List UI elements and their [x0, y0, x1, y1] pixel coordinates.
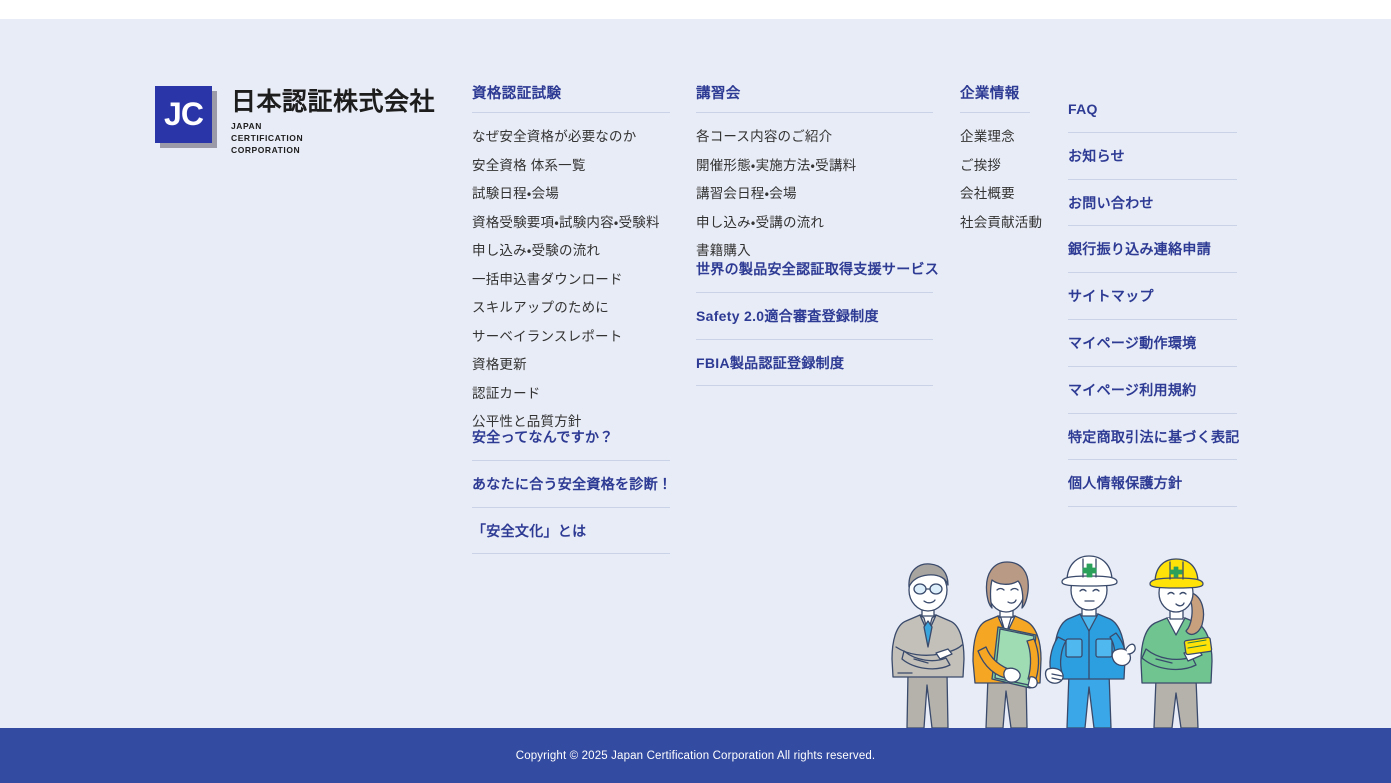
list-item: 世界の製品安全認証取得支援サービス — [696, 246, 933, 293]
footer-link-sitemap[interactable]: サイトマップ — [1068, 273, 1237, 320]
footer-link-company-profile[interactable]: 会社概要 — [960, 180, 1055, 208]
column-links-seminars: 各コース内容のご紹介 開催形態・実施方法・受講料 講習会日程・会場 申し込み・受… — [696, 123, 933, 265]
footer-column-support: FAQ お知らせ お問い合わせ 銀行振り込み連絡申請 サイトマップ マイページ動… — [1068, 86, 1237, 507]
list-item: 個人情報保護方針 — [1068, 460, 1237, 507]
footer-link-application-exam-flow[interactable]: 申し込み・受験の流れ — [472, 237, 670, 265]
list-item: サーベイランスレポート — [472, 323, 670, 351]
footer-link-what-is-safety[interactable]: 安全ってなんですか？ — [472, 414, 670, 461]
footer-link-privacy-policy[interactable]: 個人情報保護方針 — [1068, 460, 1237, 507]
list-item: 認証カード — [472, 380, 670, 408]
column-heading-company: 企業情報 — [960, 86, 1030, 113]
footer-link-why-safety-qualification[interactable]: なぜ安全資格が必要なのか — [472, 123, 670, 151]
column-links-exams: なぜ安全資格が必要なのか 安全資格 体系一覧 試験日程・会場 資格受験要項・試験… — [472, 123, 670, 436]
list-item: マイページ利用規約 — [1068, 367, 1237, 414]
footer-link-qualification-renewal[interactable]: 資格更新 — [472, 351, 670, 379]
logo-initials: JC — [164, 98, 203, 130]
list-item: 会社概要 — [960, 180, 1055, 208]
brand-name-en-line2: CERTIFICATION — [231, 132, 435, 144]
list-item: 一括申込書ダウンロード — [472, 266, 670, 294]
footer-link-news[interactable]: お知らせ — [1068, 133, 1237, 180]
footer-link-contact[interactable]: お問い合わせ — [1068, 180, 1237, 227]
footer-link-specified-commercial-transactions[interactable]: 特定商取引法に基づく表記 — [1068, 414, 1237, 461]
footer-link-certification-card[interactable]: 認証カード — [472, 380, 670, 408]
list-item: 資格受験要項・試験内容・受験料 — [472, 209, 670, 237]
footer-link-course-introduction[interactable]: 各コース内容のご紹介 — [696, 123, 933, 151]
footer-link-safety-2-0-registration[interactable]: Safety 2.0適合審査登録制度 — [696, 293, 933, 340]
footer-link-mypage-terms[interactable]: マイページ利用規約 — [1068, 367, 1237, 414]
footer-link-corporate-philosophy[interactable]: 企業理念 — [960, 123, 1055, 151]
column-links-company: 企業理念 ご挨拶 会社概要 社会貢献活動 — [960, 123, 1055, 237]
brand-name-ja: 日本認証株式会社 — [231, 88, 435, 117]
list-item: 「安全文化」とは — [472, 508, 670, 555]
figure-worker-helmet-yellow — [1141, 559, 1212, 728]
footer-column-seminars: 講習会 各コース内容のご紹介 開催形態・実施方法・受講料 講習会日程・会場 申し… — [696, 86, 933, 266]
footer-link-seminar-schedule-venue[interactable]: 講習会日程・会場 — [696, 180, 933, 208]
figure-businessman — [892, 564, 964, 728]
footer-page: JC 日本認証株式会社 JAPAN CERTIFICATION CORPORAT… — [0, 0, 1391, 783]
list-item: 申し込み・受験の流れ — [472, 237, 670, 265]
list-item: 開催形態・実施方法・受講料 — [696, 152, 933, 180]
list-item: お知らせ — [1068, 133, 1237, 180]
footer-link-social-contribution[interactable]: 社会貢献活動 — [960, 209, 1055, 237]
footer-column-company: 企業情報 企業理念 ご挨拶 会社概要 社会貢献活動 — [960, 86, 1055, 237]
list-item: 安全ってなんですか？ — [472, 414, 670, 461]
list-item: なぜ安全資格が必要なのか — [472, 123, 670, 151]
column-heading-exams: 資格認証試験 — [472, 86, 670, 113]
list-item: 社会貢献活動 — [960, 209, 1055, 237]
list-item: 企業理念 — [960, 123, 1055, 151]
footer-banner-links-safety: 安全ってなんですか？ あなたに合う安全資格を診断！ 「安全文化」とは — [472, 414, 670, 554]
logo-square: JC — [155, 86, 212, 143]
footer-link-format-method-fee[interactable]: 開催形態・実施方法・受講料 — [696, 152, 933, 180]
column-heading-seminars: 講習会 — [696, 86, 933, 113]
figure-office-woman — [973, 562, 1041, 728]
list-item: あなたに合う安全資格を診断！ — [472, 461, 670, 508]
footer-link-application-attendance-flow[interactable]: 申し込み・受講の流れ — [696, 209, 933, 237]
footer-link-mypage-environment[interactable]: マイページ動作環境 — [1068, 320, 1237, 367]
top-white-strip — [0, 0, 1391, 19]
footer-body: JC 日本認証株式会社 JAPAN CERTIFICATION CORPORAT… — [0, 19, 1391, 728]
list-item: Safety 2.0適合審査登録制度 — [696, 293, 933, 340]
footer-link-skill-up[interactable]: スキルアップのために — [472, 294, 670, 322]
list-item: 試験日程・会場 — [472, 180, 670, 208]
workers-illustration — [884, 555, 1249, 728]
list-item: 銀行振り込み連絡申請 — [1068, 226, 1237, 273]
footer-link-safety-culture[interactable]: 「安全文化」とは — [472, 508, 670, 555]
footer-link-bank-transfer-request[interactable]: 銀行振り込み連絡申請 — [1068, 226, 1237, 273]
figure-engineer-helmet-white — [1046, 556, 1136, 728]
list-item: 特定商取引法に基づく表記 — [1068, 414, 1237, 461]
brand-wordmark: 日本認証株式会社 JAPAN CERTIFICATION CORPORATION — [231, 86, 435, 156]
footer-banner-links-services: 世界の製品安全認証取得支援サービス Safety 2.0適合審査登録制度 FBI… — [696, 246, 933, 386]
list-item: ご挨拶 — [960, 152, 1055, 180]
brand-name-en-line3: CORPORATION — [231, 144, 435, 156]
footer-column-exams: 資格認証試験 なぜ安全資格が必要なのか 安全資格 体系一覧 試験日程・会場 資格… — [472, 86, 670, 437]
footer-link-faq[interactable]: FAQ — [1068, 86, 1237, 133]
copyright-bar: Copyright © 2025 Japan Certification Cor… — [0, 728, 1391, 783]
list-item: FBIA製品認証登録制度 — [696, 340, 933, 387]
list-item: お問い合わせ — [1068, 180, 1237, 227]
footer-link-global-product-safety-service[interactable]: 世界の製品安全認証取得支援サービス — [696, 246, 933, 293]
brand-name-en-line1: JAPAN — [231, 120, 435, 132]
footer-link-fbia-product-certification[interactable]: FBIA製品認証登録制度 — [696, 340, 933, 387]
footer-link-exam-schedule-venue[interactable]: 試験日程・会場 — [472, 180, 670, 208]
copyright-text: Copyright © 2025 Japan Certification Cor… — [516, 750, 876, 762]
list-item: 申し込み・受講の流れ — [696, 209, 933, 237]
list-item: マイページ動作環境 — [1068, 320, 1237, 367]
footer-link-greeting[interactable]: ご挨拶 — [960, 152, 1055, 180]
footer-link-exam-requirements-fees[interactable]: 資格受験要項・試験内容・受験料 — [472, 209, 670, 237]
list-item: 資格更新 — [472, 351, 670, 379]
footer-link-qualification-system-list[interactable]: 安全資格 体系一覧 — [472, 152, 670, 180]
jc-logo-mark-icon: JC — [155, 86, 217, 148]
brand-logo[interactable]: JC 日本認証株式会社 JAPAN CERTIFICATION CORPORAT… — [155, 86, 435, 156]
list-item: スキルアップのために — [472, 294, 670, 322]
list-item: 講習会日程・会場 — [696, 180, 933, 208]
list-item: FAQ — [1068, 86, 1237, 133]
list-item: 安全資格 体系一覧 — [472, 152, 670, 180]
brand-name-en: JAPAN CERTIFICATION CORPORATION — [231, 120, 435, 156]
footer-link-surveillance-report[interactable]: サーベイランスレポート — [472, 323, 670, 351]
footer-link-bulk-application-download[interactable]: 一括申込書ダウンロード — [472, 266, 670, 294]
list-item: サイトマップ — [1068, 273, 1237, 320]
list-item: 各コース内容のご紹介 — [696, 123, 933, 151]
footer-link-qualification-diagnosis[interactable]: あなたに合う安全資格を診断！ — [472, 461, 670, 508]
